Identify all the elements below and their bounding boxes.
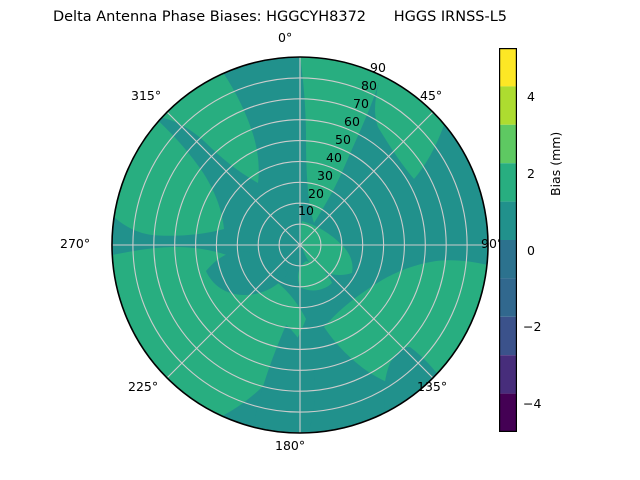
colorbar-axis-label: Bias (mm) — [548, 106, 563, 196]
angle-label-180: 180° — [275, 438, 305, 453]
radial-label-60: 60 — [344, 114, 360, 129]
angle-label-0: 0° — [278, 30, 292, 45]
chart-title: Delta Antenna Phase Biases: HGGCYH8372 H… — [0, 8, 560, 26]
radial-label-80: 80 — [361, 78, 377, 93]
angle-label-225: 225° — [128, 379, 158, 394]
angle-label-135: 135° — [417, 379, 447, 394]
polar-grid-spokes — [112, 57, 488, 433]
colorbar-tick-label-neg4: −4 — [523, 396, 541, 411]
radial-label-40: 40 — [326, 150, 342, 165]
radial-label-30: 30 — [317, 168, 333, 183]
radial-label-20: 20 — [308, 186, 324, 201]
angle-label-45: 45° — [420, 88, 442, 103]
polar-plot-area — [110, 55, 490, 435]
radial-label-50: 50 — [335, 132, 351, 147]
angle-label-270: 270° — [60, 236, 90, 251]
colorbar-tick-label-neg2: −2 — [523, 319, 541, 334]
figure-canvas: Delta Antenna Phase Biases: HGGCYH8372 H… — [0, 0, 640, 480]
radial-label-90: 90 — [370, 60, 386, 75]
colorbar-tick-label-2: 2 — [527, 166, 535, 181]
radial-label-10: 10 — [298, 203, 314, 218]
angle-label-315: 315° — [131, 88, 161, 103]
colorbar-tick-label-4: 4 — [527, 89, 535, 104]
radial-label-70: 70 — [353, 96, 369, 111]
colorbar-tick-label-0: 0 — [527, 243, 535, 258]
colorbar-bands — [499, 48, 517, 432]
colorbar — [499, 48, 517, 432]
